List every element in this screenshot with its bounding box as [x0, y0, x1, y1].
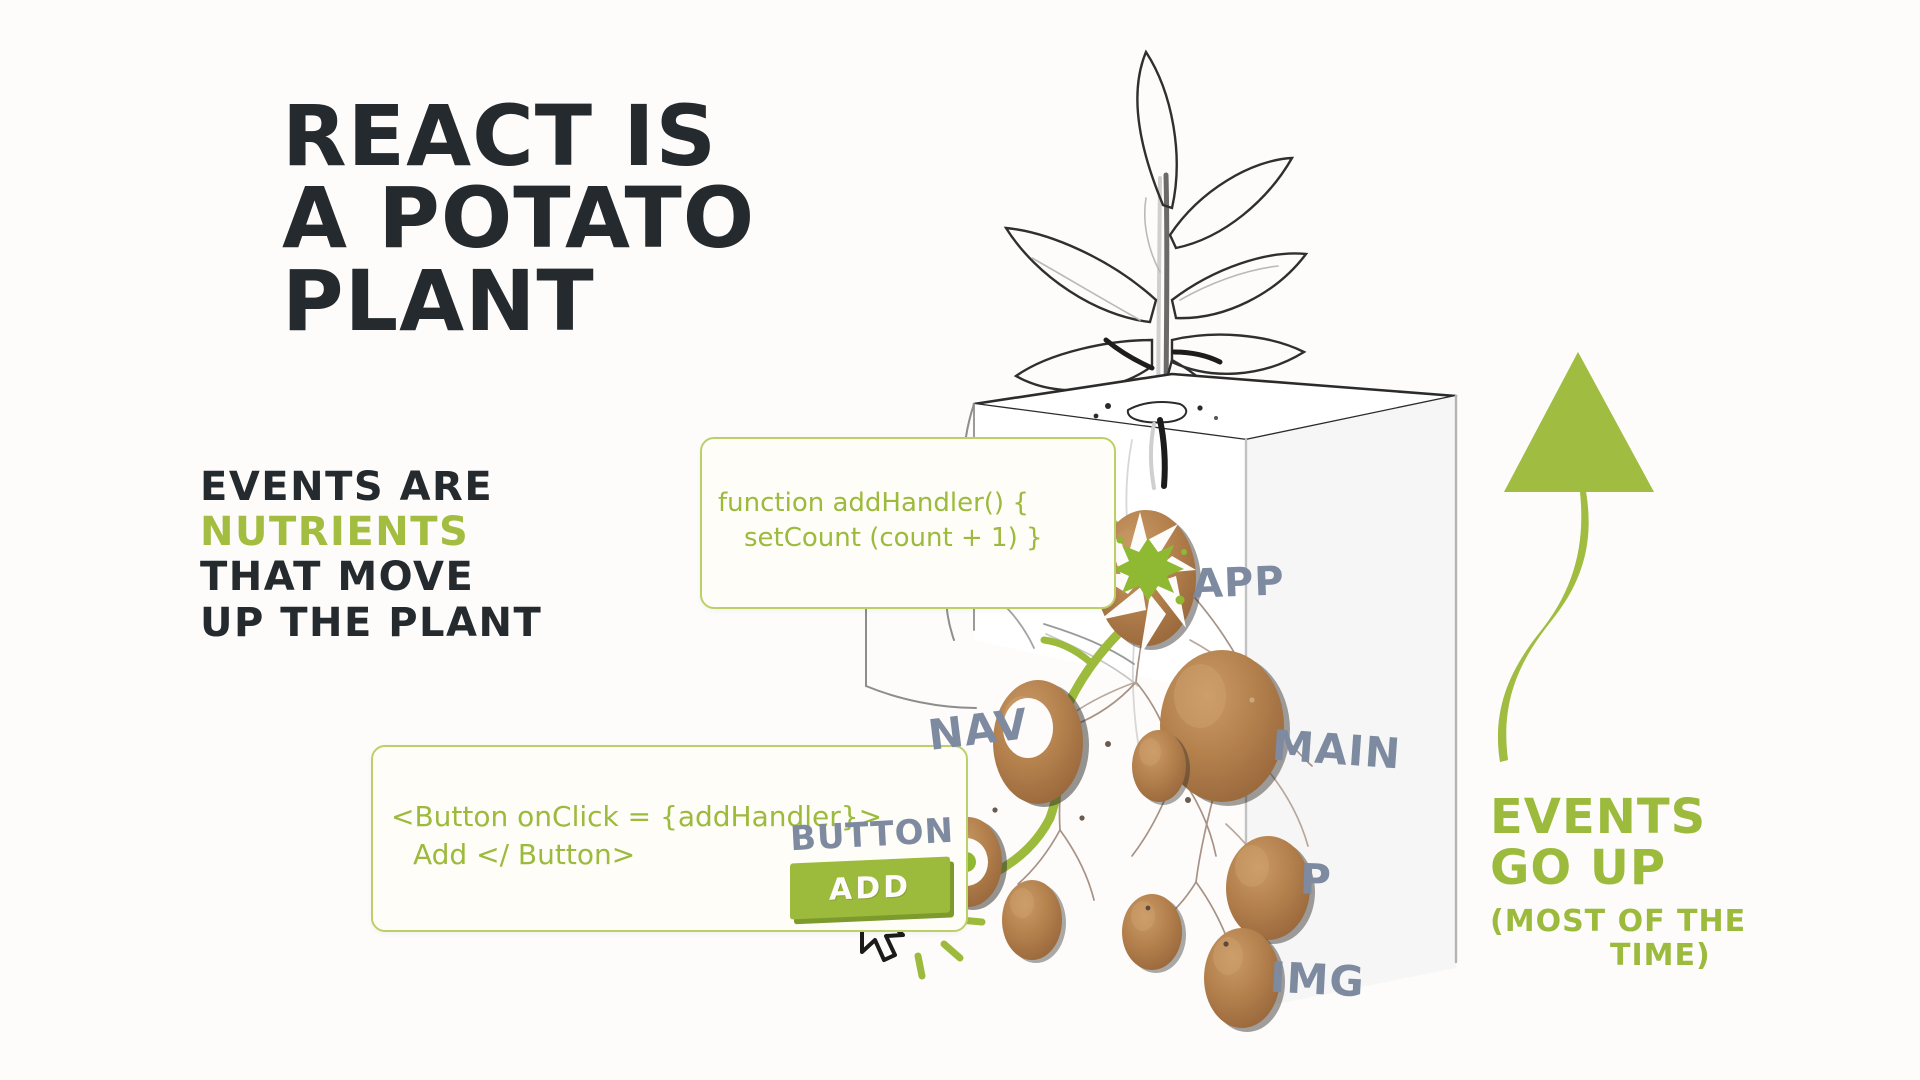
events-go-up-caption: EVENTS GO UP (MOST OF THE TIME) — [1490, 792, 1746, 974]
label-p: P — [1299, 854, 1332, 904]
label-main: MAIN — [1270, 721, 1402, 779]
lede-line-4: UP THE PLANT — [200, 601, 542, 646]
page-title: REACT IS A POTATO PLANT — [282, 95, 755, 342]
goup-line-2: GO UP — [1490, 843, 1746, 894]
goup-note: (MOST OF THE TIME) — [1490, 905, 1746, 974]
potato-small-b — [1002, 880, 1066, 963]
code-line-1: function addHandler() { — [718, 488, 1029, 518]
lede-line-1: EVENTS ARE — [200, 465, 542, 510]
potato-small-c — [1122, 894, 1186, 973]
code-callout-handler: function addHandler() { setCount (count … — [700, 437, 1116, 609]
label-app: APP — [1191, 558, 1285, 607]
illustration-canvas: REACT IS A POTATO PLANT EVENTS ARE NUTRI… — [0, 0, 1920, 1080]
goup-note-line-2: TIME) — [1490, 939, 1746, 974]
label-img: IMG — [1269, 953, 1366, 1007]
code-line-2: setCount (count + 1) } — [718, 521, 1098, 556]
lede-line-2-nutrients: NUTRIENTS — [200, 510, 542, 555]
curved-up-arrow-icon — [1498, 352, 1654, 762]
add-button-label: ADD — [829, 869, 911, 908]
goup-line-1: EVENTS — [1490, 792, 1746, 843]
lede-line-3: THAT MOVE — [200, 555, 542, 600]
goup-note-line-1: (MOST OF THE — [1490, 904, 1746, 939]
plant-sketch-icon — [1006, 52, 1306, 428]
lede-paragraph: EVENTS ARE NUTRIENTS THAT MOVE UP THE PL… — [200, 465, 542, 646]
add-button[interactable]: ADD — [790, 857, 950, 920]
